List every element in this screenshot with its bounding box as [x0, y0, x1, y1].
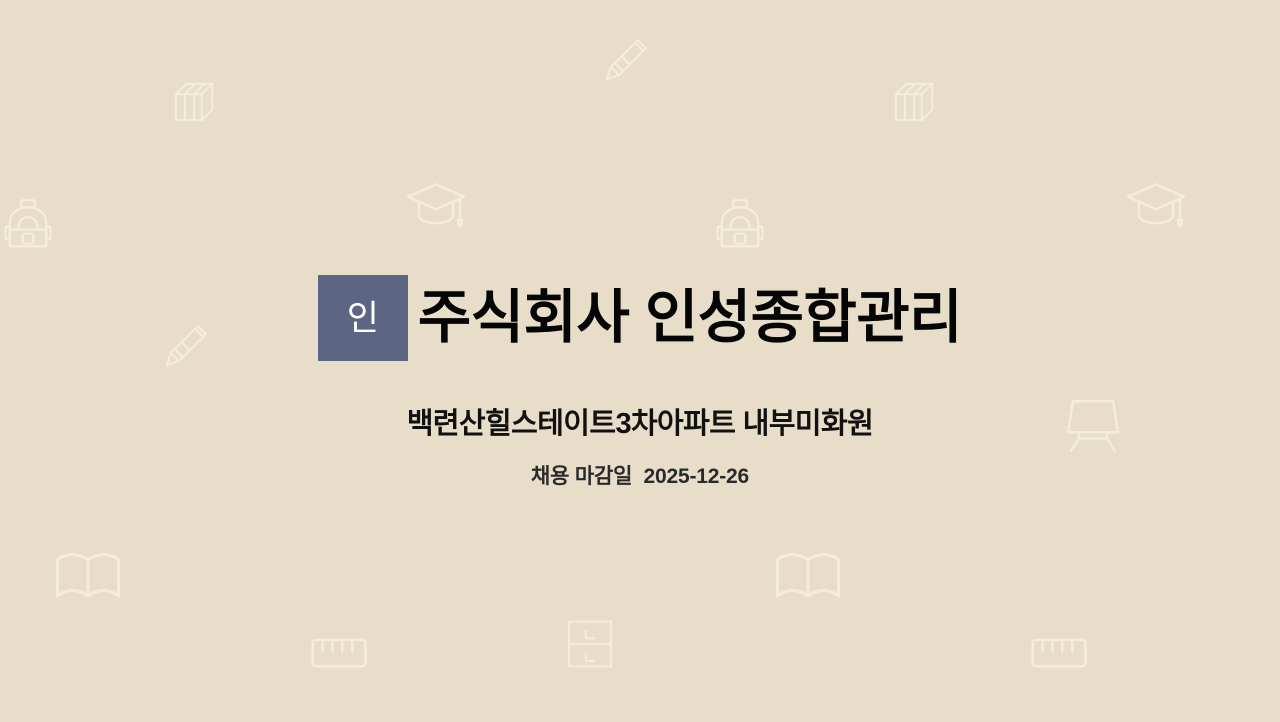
company-header: 인 주식회사 인성종합관리	[0, 248, 1280, 388]
poster-content: 인 주식회사 인성종합관리 백련산힐스테이트3차아파트 내부미화원 채용 마감일…	[0, 0, 1280, 722]
job-posting-poster: 인 주식회사 인성종합관리 백련산힐스테이트3차아파트 내부미화원 채용 마감일…	[0, 0, 1280, 722]
application-deadline: 채용 마감일 2025-12-26	[0, 464, 1280, 489]
job-title: 백련산힐스테이트3차아파트 내부미화원	[0, 407, 1280, 442]
company-logo-badge: 인	[318, 275, 408, 361]
company-logo-initial: 인	[347, 301, 379, 336]
company-name: 주식회사 인성종합관리	[418, 287, 962, 350]
